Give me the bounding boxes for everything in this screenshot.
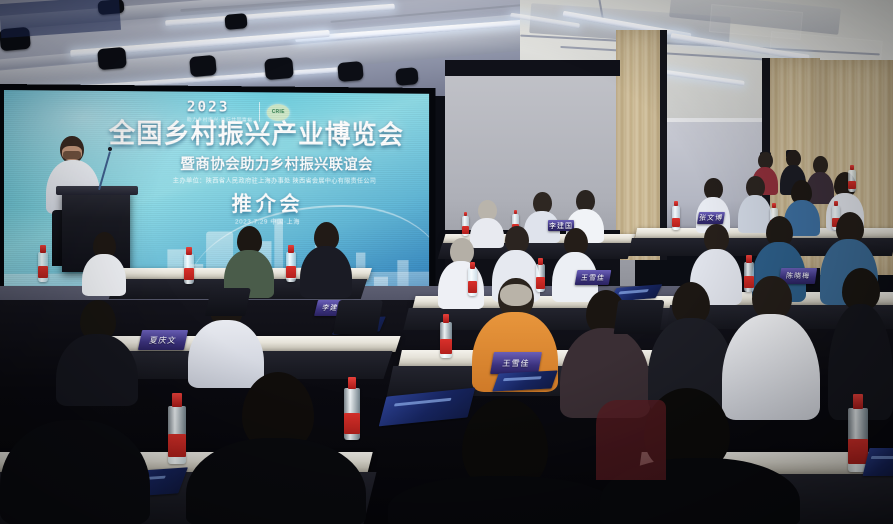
conference-booklet xyxy=(492,370,557,391)
name-placard-primary: 夏庆文 xyxy=(138,330,188,350)
name-placard: 王雪佳 xyxy=(575,270,612,285)
podium-top xyxy=(56,186,138,195)
event-logo-icon: CRIE xyxy=(267,104,290,121)
placard-name: 王雪佳 xyxy=(502,358,531,369)
microphone-head-icon xyxy=(108,147,112,151)
water-bottle xyxy=(184,254,194,284)
foreground-person xyxy=(0,400,150,524)
ceiling-spotlight xyxy=(224,13,247,30)
water-bottle xyxy=(440,322,452,358)
water-bottle xyxy=(672,206,680,230)
slide-title-main: 全国乡村振兴产业博览会 xyxy=(87,121,424,149)
water-bottle xyxy=(38,252,48,282)
wall-panel xyxy=(616,30,660,260)
placard-name: 张文博 xyxy=(698,213,724,223)
slide-year: 2023 xyxy=(187,100,253,115)
header-divider xyxy=(259,102,260,122)
slide-year-subtitle: 助力乡村振兴·先行共同富裕 xyxy=(187,116,253,123)
conference-room-photo: 2023 助力乡村振兴·先行共同富裕 CRIE 全国乡村振兴产业博览会 暨商协会… xyxy=(0,0,893,524)
placard-name: 夏庆文 xyxy=(148,335,177,346)
wall-trim xyxy=(445,60,620,76)
ceiling-spotlight xyxy=(264,57,294,80)
slide-title-sub: 暨商协会助力乡村振兴联谊会 xyxy=(132,153,419,174)
chair xyxy=(333,300,383,334)
water-bottle-foreground xyxy=(168,406,186,464)
slide-organizer-line: 主办单位：陕西省人民政府驻上海办事处 陕西省会展中心有限责任公司 xyxy=(121,174,427,184)
ceiling-spotlight xyxy=(337,61,364,82)
foreground-red-garment xyxy=(596,400,666,480)
ceiling-spotlight xyxy=(97,47,127,70)
placard-name: 王雪佳 xyxy=(580,273,606,283)
water-bottle xyxy=(286,252,296,282)
audience-person xyxy=(224,226,274,296)
audience-person xyxy=(56,300,138,404)
audience-person xyxy=(82,232,126,294)
foreground-person xyxy=(388,398,618,524)
ceiling-spotlight xyxy=(189,55,217,77)
audience-person xyxy=(300,222,352,296)
water-bottle xyxy=(848,170,856,192)
slide-event-type: 推介会 xyxy=(152,188,382,218)
face-mask-icon xyxy=(63,151,81,159)
foreground-person xyxy=(186,372,366,524)
name-placard: 张文博 xyxy=(697,212,725,224)
chair xyxy=(614,300,665,334)
water-bottle xyxy=(462,216,469,236)
ceiling-spotlight xyxy=(395,67,418,86)
chair xyxy=(205,288,251,316)
slide-header: 2023 助力乡村振兴·先行共同富裕 CRIE xyxy=(187,100,290,124)
